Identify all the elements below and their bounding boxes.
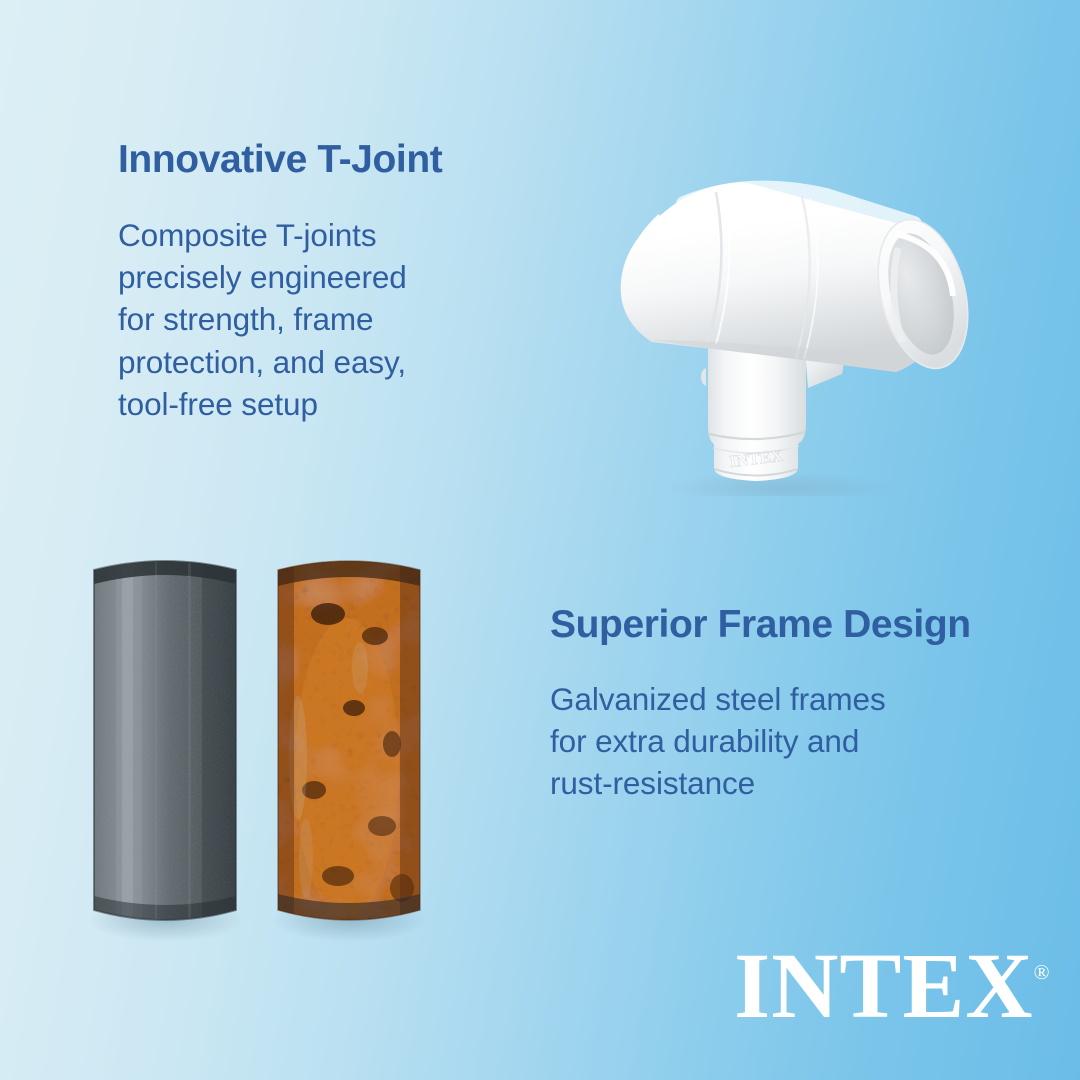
intex-logo: INTEX® [734, 940, 1050, 1033]
feature-innovative-t-joint: Innovative T-Joint Composite T-joints pr… [118, 140, 442, 425]
feature-body-t-joint: Composite T-joints precisely engineered … [118, 214, 442, 425]
rusted-steel-pipe [272, 558, 428, 938]
body-line: Galvanized steel frames [550, 678, 971, 720]
body-line: Composite T-joints [118, 214, 442, 256]
body-line: rust-resistance [550, 762, 971, 804]
body-line: for strength, frame [118, 298, 442, 340]
infographic-canvas: Innovative T-Joint Composite T-joints pr… [0, 0, 1080, 1080]
feature-headline-t-joint: Innovative T-Joint [118, 140, 442, 181]
pipe-comparison-image [92, 558, 492, 958]
galvanized-steel-pipe [92, 558, 242, 938]
t-joint-product-image: INTEX [596, 96, 1016, 496]
feature-body-frame-design: Galvanized steel frames for extra durabi… [550, 678, 971, 805]
intex-logo-text: INTEX [734, 935, 1034, 1038]
feature-superior-frame-design: Superior Frame Design Galvanized steel f… [550, 605, 971, 805]
body-line: precisely engineered [118, 256, 442, 298]
body-line: protection, and easy, [118, 341, 442, 383]
body-line: for extra durability and [550, 720, 971, 762]
body-line: tool-free setup [118, 383, 442, 425]
registered-trademark-icon: ® [1034, 960, 1050, 984]
feature-headline-frame-design: Superior Frame Design [550, 605, 971, 646]
